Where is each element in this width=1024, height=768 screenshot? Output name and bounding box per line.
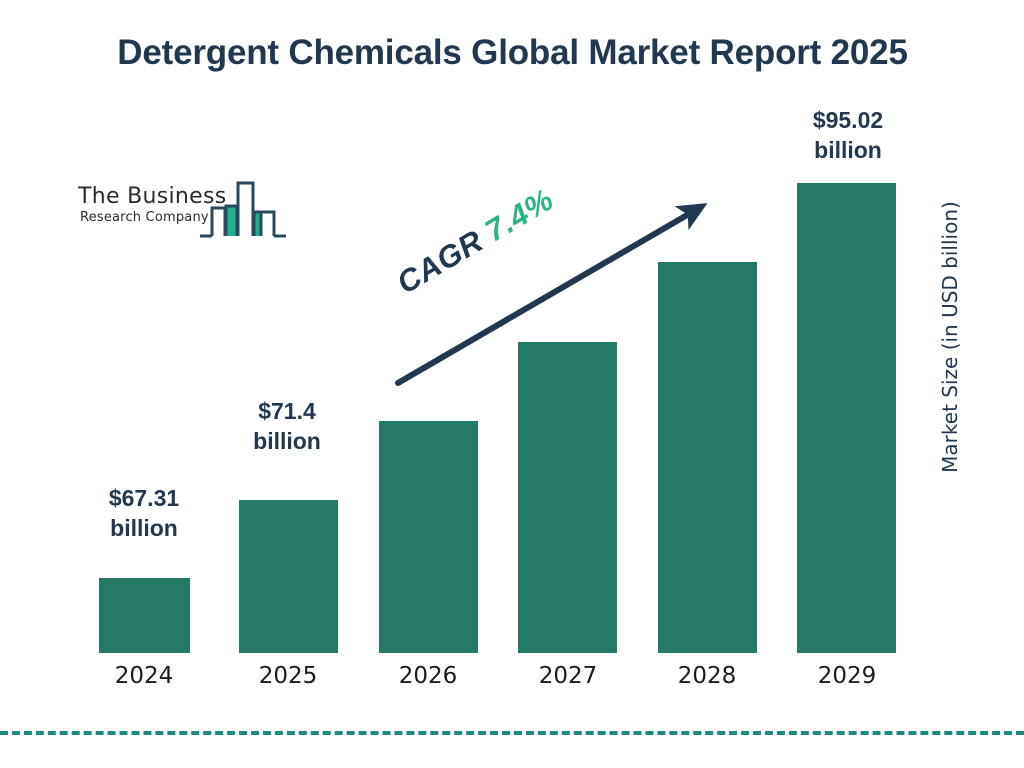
x-axis-label-2025: 2025: [228, 663, 348, 689]
bar-2025[interactable]: [239, 500, 338, 653]
bar-value-2029: $95.02 billion: [780, 105, 916, 166]
footer-divider: [0, 731, 1024, 735]
chart-page: Detergent Chemicals Global Market Report…: [0, 0, 1024, 768]
bar-value-2029-unit: billion: [780, 135, 916, 165]
bar-2024[interactable]: [99, 578, 190, 653]
bar-value-2029-amount: $95.02: [780, 105, 916, 135]
x-axis-label-2029: 2029: [787, 663, 907, 689]
y-axis-title: Market Size (in USD billion): [938, 167, 962, 507]
x-axis-label-2024: 2024: [84, 663, 204, 689]
bar-value-2025-unit: billion: [219, 426, 355, 456]
x-axis-label-2028: 2028: [647, 663, 767, 689]
bar-2026[interactable]: [379, 421, 478, 653]
cagr-label: CAGR 7.4%: [391, 182, 560, 302]
bar-2029[interactable]: [797, 183, 896, 653]
bar-2028[interactable]: [658, 262, 757, 653]
bar-value-2025: $71.4 billion: [219, 396, 355, 457]
bar-value-2025-amount: $71.4: [219, 396, 355, 426]
bar-value-2024: $67.31 billion: [76, 483, 212, 544]
bar-2027[interactable]: [518, 342, 617, 653]
cagr-label-word: CAGR: [391, 223, 489, 301]
bar-value-2024-amount: $67.31: [76, 483, 212, 513]
bar-chart-plot: $67.31 billion $71.4 billion $95.02 bill…: [0, 0, 1024, 768]
cagr-label-value: 7.4%: [479, 182, 559, 249]
x-axis-label-2027: 2027: [508, 663, 628, 689]
x-axis-label-2026: 2026: [368, 663, 488, 689]
bar-value-2024-unit: billion: [76, 513, 212, 543]
